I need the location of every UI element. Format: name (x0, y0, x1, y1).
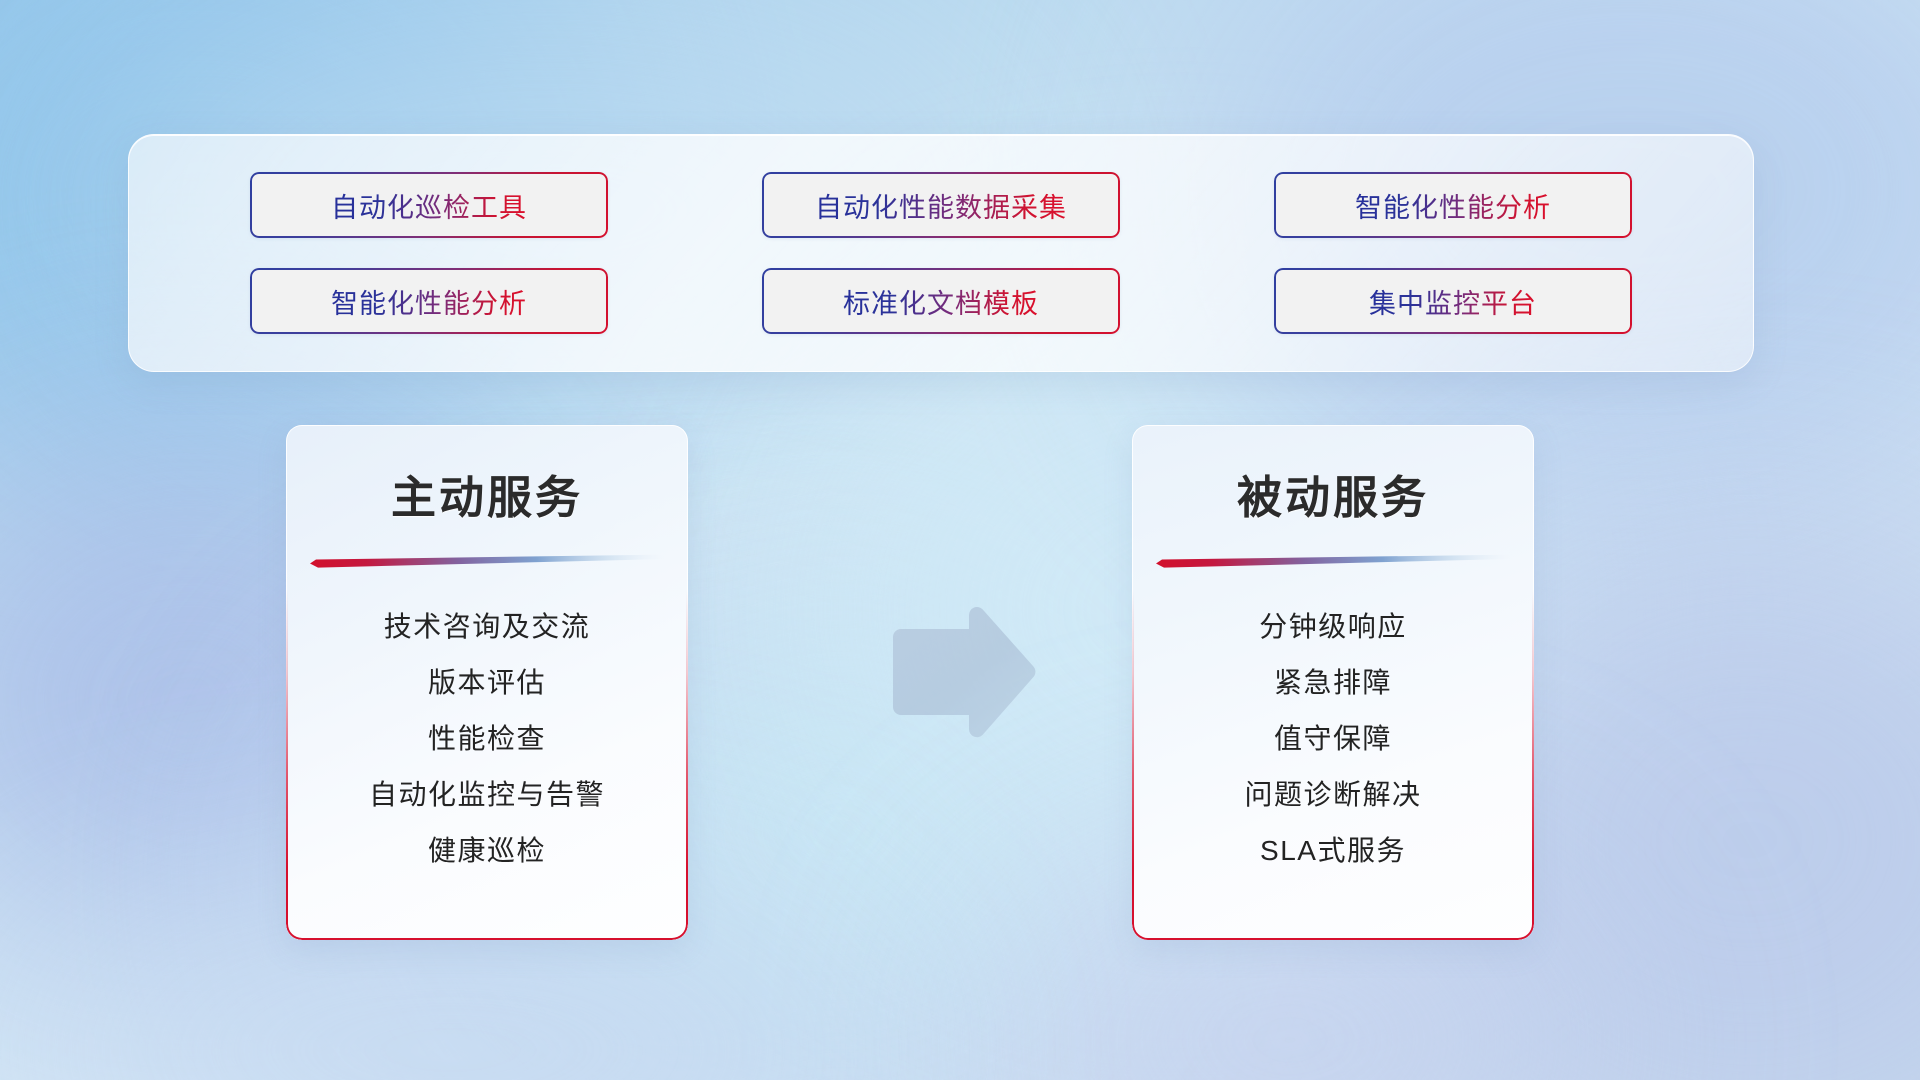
capability-chip-label: 智能化性能分析 (331, 282, 527, 321)
card-divider (310, 554, 664, 569)
capability-chip-label: 智能化性能分析 (1355, 186, 1551, 225)
service-list-item[interactable]: 紧急排障 (1132, 655, 1534, 711)
arrow-right-icon (883, 603, 1039, 743)
service-list-item[interactable]: 问题诊断解决 (1132, 767, 1534, 823)
service-list-item[interactable]: 分钟级响应 (1132, 599, 1534, 655)
service-card-list: 分钟级响应 紧急排障 值守保障 问题诊断解决 SLA式服务 (1132, 569, 1534, 879)
capability-panel: 自动化巡检工具 自动化性能数据采集 智能化性能分析 智能化性能分析 标准化文档模… (128, 134, 1754, 372)
capability-chip-central-monitor-platform[interactable]: 集中监控平台 (1274, 268, 1632, 334)
service-list-item[interactable]: 自动化监控与告警 (286, 767, 688, 823)
capability-chip-intelligent-perf-analysis-2[interactable]: 智能化性能分析 (250, 268, 608, 334)
capability-chip-intelligent-perf-analysis[interactable]: 智能化性能分析 (1274, 172, 1632, 238)
service-list-item[interactable]: 性能检查 (286, 711, 688, 767)
capability-chip-auto-inspection-tool[interactable]: 自动化巡检工具 (250, 172, 608, 238)
capability-chip-auto-perf-collection[interactable]: 自动化性能数据采集 (762, 172, 1120, 238)
service-list-item[interactable]: 技术咨询及交流 (286, 599, 688, 655)
capability-chip-label: 自动化巡检工具 (331, 186, 527, 225)
card-divider (1156, 554, 1510, 569)
capability-chip-label: 标准化文档模板 (843, 282, 1039, 321)
service-card-title: 被动服务 (1132, 425, 1534, 526)
service-list-item[interactable]: 版本评估 (286, 655, 688, 711)
service-card-proactive: 主动服务 技术咨询及交流 版本评估 性能检查 自动化监控与告警 健康巡检 (286, 425, 688, 940)
capability-chip-label: 集中监控平台 (1369, 282, 1537, 321)
service-card-title: 主动服务 (286, 425, 688, 526)
service-list-item[interactable]: 值守保障 (1132, 711, 1534, 767)
service-card-reactive: 被动服务 分钟级响应 紧急排障 值守保障 问题诊断解决 SLA式服务 (1132, 425, 1534, 940)
service-card-list: 技术咨询及交流 版本评估 性能检查 自动化监控与告警 健康巡检 (286, 569, 688, 879)
service-list-item[interactable]: 健康巡检 (286, 823, 688, 879)
capability-chip-label: 自动化性能数据采集 (815, 186, 1067, 225)
capability-chip-standard-doc-template[interactable]: 标准化文档模板 (762, 268, 1120, 334)
service-list-item[interactable]: SLA式服务 (1132, 823, 1534, 879)
